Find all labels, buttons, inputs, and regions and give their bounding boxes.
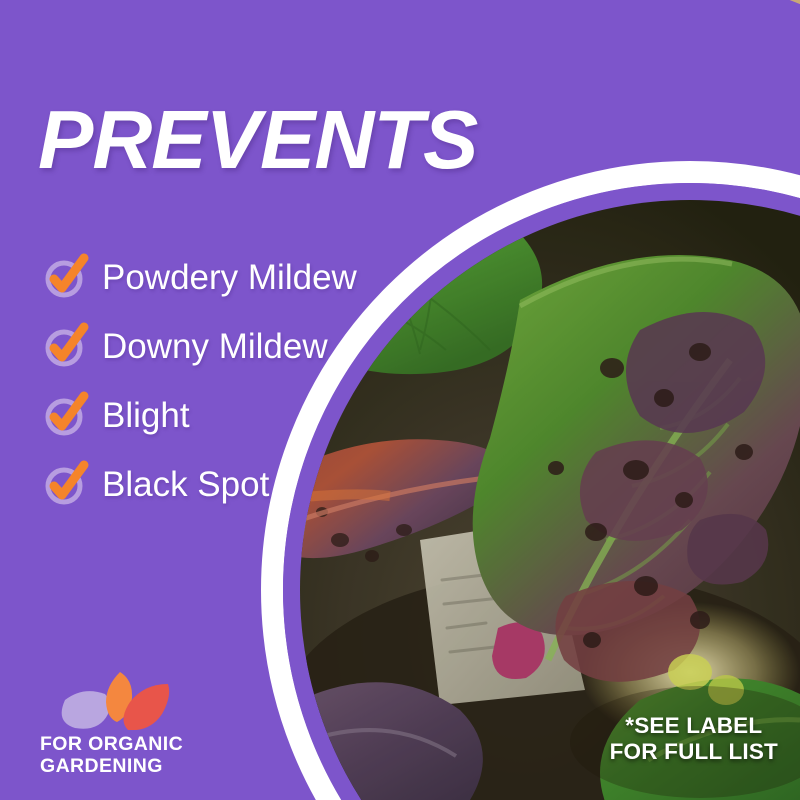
check-circle-icon <box>44 393 88 437</box>
list-item-label: Blight <box>102 398 190 433</box>
product-feature-graphic: PREVENTS Powdery Mildew Downy Mildew <box>0 0 800 800</box>
footnote-line-2: FOR FULL LIST <box>610 739 778 764</box>
prevents-list: Powdery Mildew Downy Mildew Blight <box>44 248 357 524</box>
logo-line-1: FOR ORGANIC <box>40 734 270 756</box>
list-item: Blight <box>44 386 357 444</box>
see-label-footnote: *SEE LABEL FOR FULL LIST <box>610 713 778 764</box>
list-item-label: Black Spot <box>102 467 269 502</box>
logo-line-2: GARDENING <box>40 756 270 778</box>
check-circle-icon <box>44 462 88 506</box>
list-item: Downy Mildew <box>44 317 357 375</box>
three-leaf-icon <box>58 668 178 730</box>
list-item: Black Spot <box>44 455 357 513</box>
page-title: PREVENTS <box>38 98 477 181</box>
check-circle-icon <box>44 255 88 299</box>
list-item-label: Downy Mildew <box>102 329 328 364</box>
list-item: Powdery Mildew <box>44 248 357 306</box>
logo-text: FOR ORGANIC GARDENING <box>40 734 270 778</box>
footnote-line-1: *SEE LABEL <box>610 713 778 738</box>
list-item-label: Powdery Mildew <box>102 260 357 295</box>
check-circle-icon <box>44 324 88 368</box>
for-organic-gardening-logo: FOR ORGANIC GARDENING <box>40 668 270 778</box>
